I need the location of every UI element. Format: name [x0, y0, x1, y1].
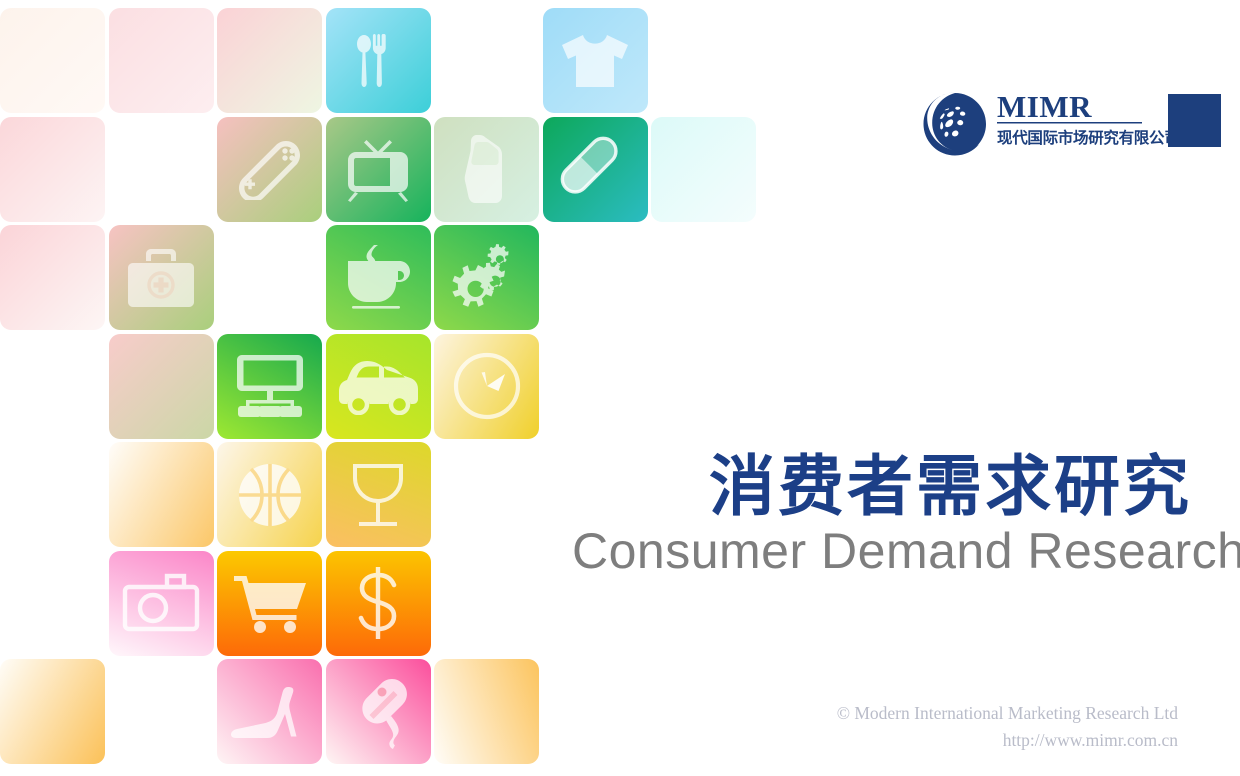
tile-blank-orange-right	[434, 659, 539, 764]
tile-camera	[109, 551, 214, 656]
page-title-english: Consumer Demand Research	[572, 523, 1192, 581]
shopping-cart-icon	[217, 551, 322, 656]
computer-network-icon	[217, 334, 322, 439]
tshirt-icon	[543, 8, 648, 113]
tile-blank-pink-left	[0, 117, 105, 222]
tile-blank-pale-pink	[109, 8, 214, 113]
tile-computer-network	[217, 334, 322, 439]
camera-icon	[109, 551, 214, 656]
tile-gears	[434, 225, 539, 330]
tile-blank-pale-cream	[0, 8, 105, 113]
tile-pill-capsule	[543, 117, 648, 222]
tile-car	[326, 334, 431, 439]
basketball-icon	[217, 442, 322, 547]
tile-wine-glass	[326, 442, 431, 547]
pill-icon	[543, 117, 648, 222]
wine-glass-icon	[326, 442, 431, 547]
high-heel-icon	[217, 659, 322, 764]
title-block: 消费者需求研究 Consumer Demand Research	[572, 452, 1192, 580]
game-controller-icon	[217, 117, 322, 222]
tile-dollar-sign	[326, 551, 431, 656]
coffee-cup-icon	[326, 225, 431, 330]
tile-cutlery	[326, 8, 431, 113]
logo-accent-block	[1168, 94, 1221, 147]
copyright-text: © Modern International Marketing Researc…	[837, 700, 1178, 727]
gears-icon	[434, 225, 539, 330]
tile-blank-orange-corner	[0, 659, 105, 764]
medical-kit-icon	[109, 225, 214, 330]
svg-text:MIMR: MIMR	[997, 89, 1092, 124]
dollar-icon	[326, 551, 431, 656]
tile-high-heel-shoe	[217, 659, 322, 764]
tile-tshirt	[543, 8, 648, 113]
tile-blank-cyan	[651, 117, 756, 222]
page-title-chinese: 消费者需求研究	[572, 452, 1192, 521]
tile-microphone	[326, 659, 431, 764]
car-icon	[326, 334, 431, 439]
cutlery-icon	[326, 8, 431, 113]
tile-blank-pink-row2	[0, 225, 105, 330]
website-url[interactable]: http://www.mimr.com.cn	[837, 727, 1178, 754]
tile-mobile-phone	[434, 117, 539, 222]
tile-shopping-cart	[217, 551, 322, 656]
mobile-phone-icon	[434, 117, 539, 222]
icon-mosaic	[0, 0, 790, 776]
globe-c-icon	[921, 90, 989, 158]
title-slide: MIMR 现代国际市场研究有限公司 消费者需求研究 Consumer Deman…	[0, 0, 1240, 776]
tile-basketball	[217, 442, 322, 547]
tile-clock	[434, 334, 539, 439]
tile-blank-pink-green	[217, 8, 322, 113]
logo-wordmark: MIMR	[997, 86, 1142, 130]
footer: © Modern International Marketing Researc…	[837, 700, 1178, 754]
tile-television	[326, 117, 431, 222]
tile-coffee-cup	[326, 225, 431, 330]
microphone-icon	[326, 659, 431, 764]
company-logo: MIMR 现代国际市场研究有限公司	[921, 88, 1221, 160]
television-icon	[326, 117, 431, 222]
tile-blank-pink-row3	[109, 334, 214, 439]
tile-game-controller	[217, 117, 322, 222]
clock-icon	[434, 334, 539, 439]
tile-blank-orange-fade	[109, 442, 214, 547]
tile-medical-kit	[109, 225, 214, 330]
logo-chinese-name: 现代国际市场研究有限公司	[997, 126, 1163, 148]
